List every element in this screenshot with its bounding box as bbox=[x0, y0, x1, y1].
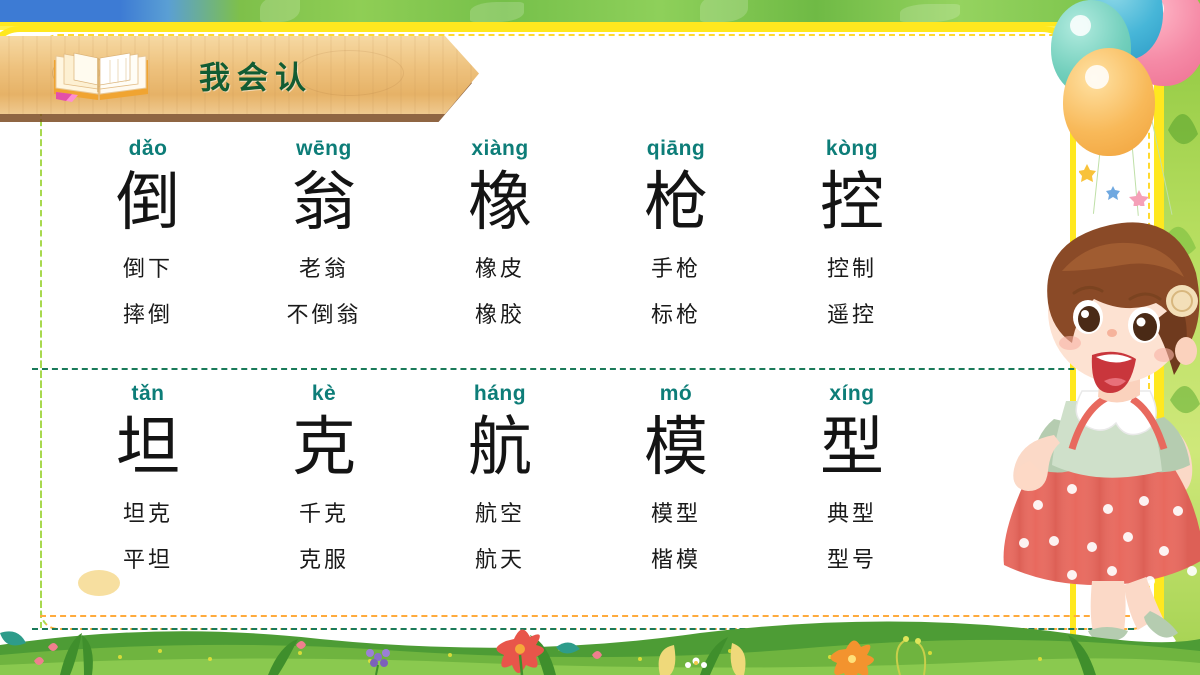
pinyin-label: kè bbox=[236, 383, 412, 404]
example-word-2: 不倒翁 bbox=[236, 304, 412, 326]
example-word-1: 老翁 bbox=[236, 258, 412, 280]
example-word-2: 楷模 bbox=[588, 549, 764, 571]
hanzi-character: 模 bbox=[588, 414, 764, 481]
confetti-stars bbox=[1079, 156, 1189, 211]
hanzi-character: 型 bbox=[764, 414, 940, 481]
left-dashed-line-row2 bbox=[40, 372, 42, 628]
character-cell[interactable]: wēng 翁 老翁 不倒翁 bbox=[236, 138, 412, 358]
pinyin-label: qiāng bbox=[588, 138, 764, 159]
example-word-2: 橡胶 bbox=[412, 304, 588, 326]
hanzi-character: 坦 bbox=[60, 414, 236, 481]
hanzi-character: 枪 bbox=[588, 169, 764, 236]
example-word-2: 型号 bbox=[764, 549, 940, 571]
character-row-2: tǎn 坦 坦克 平坦 kè 克 千克 克服 háng 航 航空 航天 mó 模… bbox=[60, 383, 940, 603]
page-title: 我会认 bbox=[199, 53, 313, 98]
example-word-1: 橡皮 bbox=[412, 258, 588, 280]
example-word-1: 航空 bbox=[412, 503, 588, 525]
pinyin-label: mó bbox=[588, 383, 764, 404]
character-row-1: dǎo 倒 倒下 摔倒 wēng 翁 老翁 不倒翁 xiàng 橡 橡皮 橡胶 … bbox=[60, 138, 940, 358]
orange-balloon bbox=[1063, 48, 1155, 156]
character-cell[interactable]: mó 模 模型 楷模 bbox=[588, 383, 764, 603]
example-word-1: 倒下 bbox=[60, 258, 236, 280]
pinyin-label: xíng bbox=[764, 383, 940, 404]
oval-decoration bbox=[78, 570, 120, 596]
pinyin-label: tǎn bbox=[60, 383, 236, 404]
example-word-1: 模型 bbox=[588, 503, 764, 525]
character-cell[interactable]: háng 航 航空 航天 bbox=[412, 383, 588, 603]
character-cell[interactable]: qiāng 枪 手枪 标枪 bbox=[588, 138, 764, 358]
pinyin-label: xiàng bbox=[412, 138, 588, 159]
example-word-1: 千克 bbox=[236, 503, 412, 525]
character-cell[interactable]: kòng 控 控制 遥控 bbox=[764, 138, 940, 358]
top-foliage-band bbox=[0, 0, 1200, 22]
pinyin-label: dǎo bbox=[60, 138, 236, 159]
hanzi-character: 航 bbox=[412, 414, 588, 481]
character-cell[interactable]: kè 克 千克 克服 bbox=[236, 383, 412, 603]
example-word-2: 遥控 bbox=[764, 304, 940, 326]
character-cell[interactable]: xíng 型 典型 型号 bbox=[764, 383, 940, 603]
example-word-2: 克服 bbox=[236, 549, 412, 571]
character-cell[interactable]: tǎn 坦 坦克 平坦 bbox=[60, 383, 236, 603]
example-word-2: 摔倒 bbox=[60, 304, 236, 326]
example-word-2: 标枪 bbox=[588, 304, 764, 326]
example-word-2: 平坦 bbox=[60, 549, 236, 571]
hanzi-character: 翁 bbox=[236, 169, 412, 236]
row-divider-line bbox=[32, 368, 1144, 370]
character-cell[interactable]: dǎo 倒 倒下 摔倒 bbox=[60, 138, 236, 358]
hanzi-character: 橡 bbox=[412, 169, 588, 236]
pinyin-label: wēng bbox=[236, 138, 412, 159]
pinyin-label: kòng bbox=[764, 138, 940, 159]
example-word-1: 坦克 bbox=[60, 503, 236, 525]
grass-flower-border bbox=[0, 603, 1200, 675]
balloon-cluster bbox=[1025, 0, 1200, 201]
hanzi-character: 克 bbox=[236, 414, 412, 481]
pinyin-label: háng bbox=[412, 383, 588, 404]
example-word-1: 手枪 bbox=[588, 258, 764, 280]
hanzi-character: 倒 bbox=[60, 169, 236, 236]
character-grid: dǎo 倒 倒下 摔倒 wēng 翁 老翁 不倒翁 xiàng 橡 橡皮 橡胶 … bbox=[60, 138, 940, 618]
hanzi-character: 控 bbox=[764, 169, 940, 236]
character-cell[interactable]: xiàng 橡 橡皮 橡胶 bbox=[412, 138, 588, 358]
slide-root: 我会认 dǎo 倒 倒下 摔倒 bbox=[0, 0, 1200, 675]
open-book-icon bbox=[48, 44, 154, 110]
example-word-2: 航天 bbox=[412, 549, 588, 571]
example-word-1: 典型 bbox=[764, 503, 940, 525]
example-word-1: 控制 bbox=[764, 258, 940, 280]
